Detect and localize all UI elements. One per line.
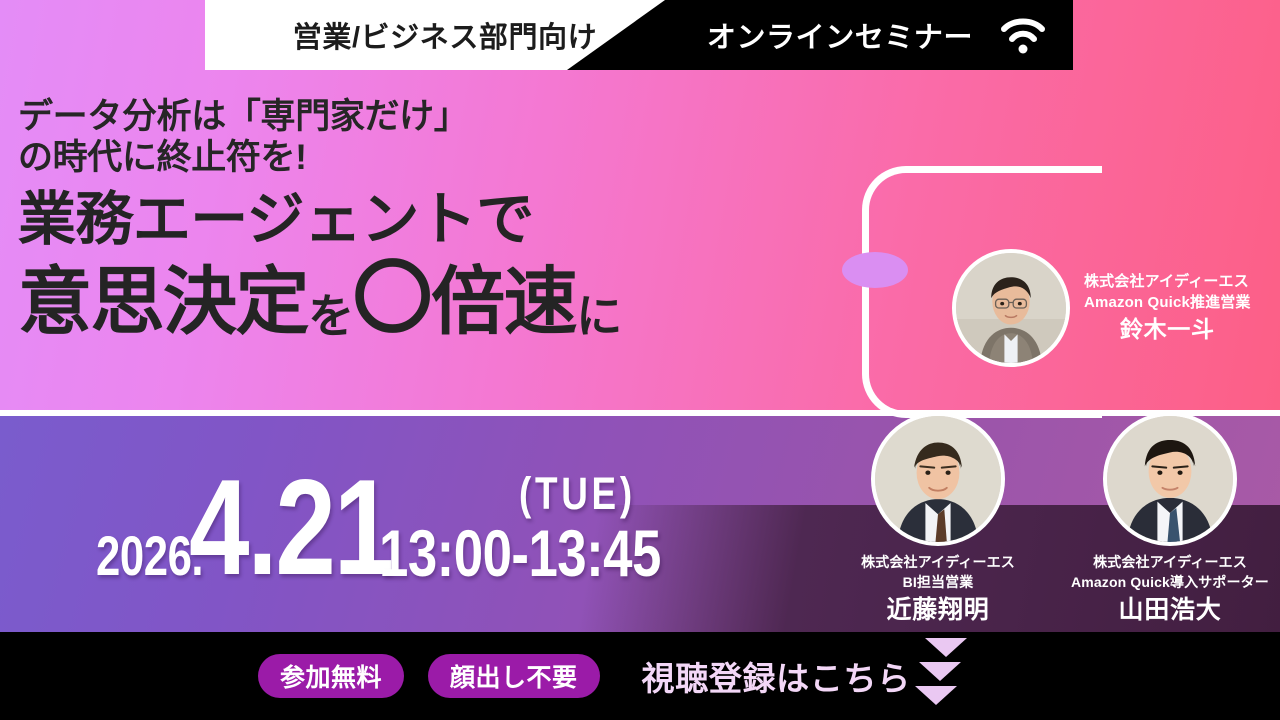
headline-main-2-d: 倍速	[431, 265, 576, 339]
speaker-role: Amazon Quick推進営業	[1084, 292, 1251, 314]
headline-sub-line-2: の時代に終止符を!	[18, 137, 878, 178]
speaker-role: BI担当営業	[861, 572, 1015, 592]
speaker-org: 株式会社アイディーエス	[1084, 271, 1251, 293]
decorative-ellipse	[842, 252, 908, 288]
speaker-name: 山田浩大	[1071, 594, 1269, 628]
headline-main-line-1: 業務エージェントで	[18, 191, 878, 249]
headline-block: データ分析は「専門家だけ」 の時代に終止符を! 業務エージェントで 意思決定 を…	[18, 96, 878, 339]
wifi-icon	[1000, 14, 1046, 56]
headline-main-2-a: 意思決定	[18, 265, 308, 339]
event-year: 2026.	[96, 529, 203, 582]
speaker-photo-kondo	[871, 412, 1005, 546]
badge-no-camera-required: 顔出し不要	[428, 654, 600, 698]
footer-bar: 参加無料 顔出し不要 視聴登録はこちら	[0, 632, 1280, 720]
seminar-banner: 営業/ビジネス部門向け オンラインセミナー データ分析は「専門家だけ」 の時代に…	[0, 0, 1280, 720]
speaker-info-suzuki: 株式会社アイディーエス Amazon Quick推進営業 鈴木一斗	[1084, 271, 1251, 346]
event-date-block: 2026. 4.21 (TUE) 13:00-13:45	[96, 438, 732, 588]
badge-free-participation: 参加無料	[258, 654, 404, 698]
speaker-card-kondo: 株式会社アイディーエス BI担当営業 近藤翔明	[828, 412, 1048, 622]
header-format-label: オンラインセミナー	[675, 0, 1005, 70]
headline-main-line-2: 意思決定 を 〇 倍速 に	[18, 259, 878, 339]
speaker-info-yamada: 株式会社アイディーエス Amazon Quick導入サポーター 山田浩大	[1071, 552, 1269, 627]
event-time-group: (TUE) 13:00-13:45	[379, 471, 731, 586]
speaker-name: 近藤翔明	[861, 594, 1015, 628]
speaker-org: 株式会社アイディーエス	[861, 552, 1015, 572]
chevron-down-icon-stack[interactable]	[915, 636, 971, 716]
event-time: 13:00-13:45	[379, 520, 661, 586]
chevron-down-icon	[919, 662, 961, 681]
chevron-down-icon	[915, 686, 957, 705]
header-audience-label: 営業/ビジネス部門向け	[235, 0, 655, 70]
headline-sub-line-1: データ分析は「専門家だけ」	[18, 96, 878, 137]
speaker-card-yamada: 株式会社アイディーエス Amazon Quick導入サポーター 山田浩大	[1060, 412, 1280, 622]
chevron-down-icon	[925, 638, 967, 657]
speaker-photo-suzuki	[952, 249, 1070, 367]
headline-main-2-c: 〇	[353, 259, 432, 339]
speaker-photo-yamada	[1103, 412, 1237, 546]
event-day-of-week: (TUE)	[519, 471, 636, 516]
speaker-info-kondo: 株式会社アイディーエス BI担当営業 近藤翔明	[861, 552, 1015, 627]
header-banner: 営業/ビジネス部門向け オンラインセミナー	[205, 0, 1073, 70]
speaker-name: 鈴木一斗	[1084, 314, 1251, 345]
speaker-card-top: 株式会社アイディーエス Amazon Quick推進営業 鈴木一斗	[952, 228, 1280, 388]
speaker-card-group-bottom: 株式会社アイディーエス BI担当営業 近藤翔明	[828, 412, 1280, 622]
headline-main-2-b: を	[308, 293, 353, 339]
speaker-org: 株式会社アイディーエス	[1071, 552, 1269, 572]
registration-cta-label[interactable]: 視聴登録はこちら	[642, 652, 911, 700]
event-day: 4.21	[189, 466, 392, 588]
headline-main-2-e: に	[576, 293, 621, 339]
speaker-role: Amazon Quick導入サポーター	[1071, 572, 1269, 592]
